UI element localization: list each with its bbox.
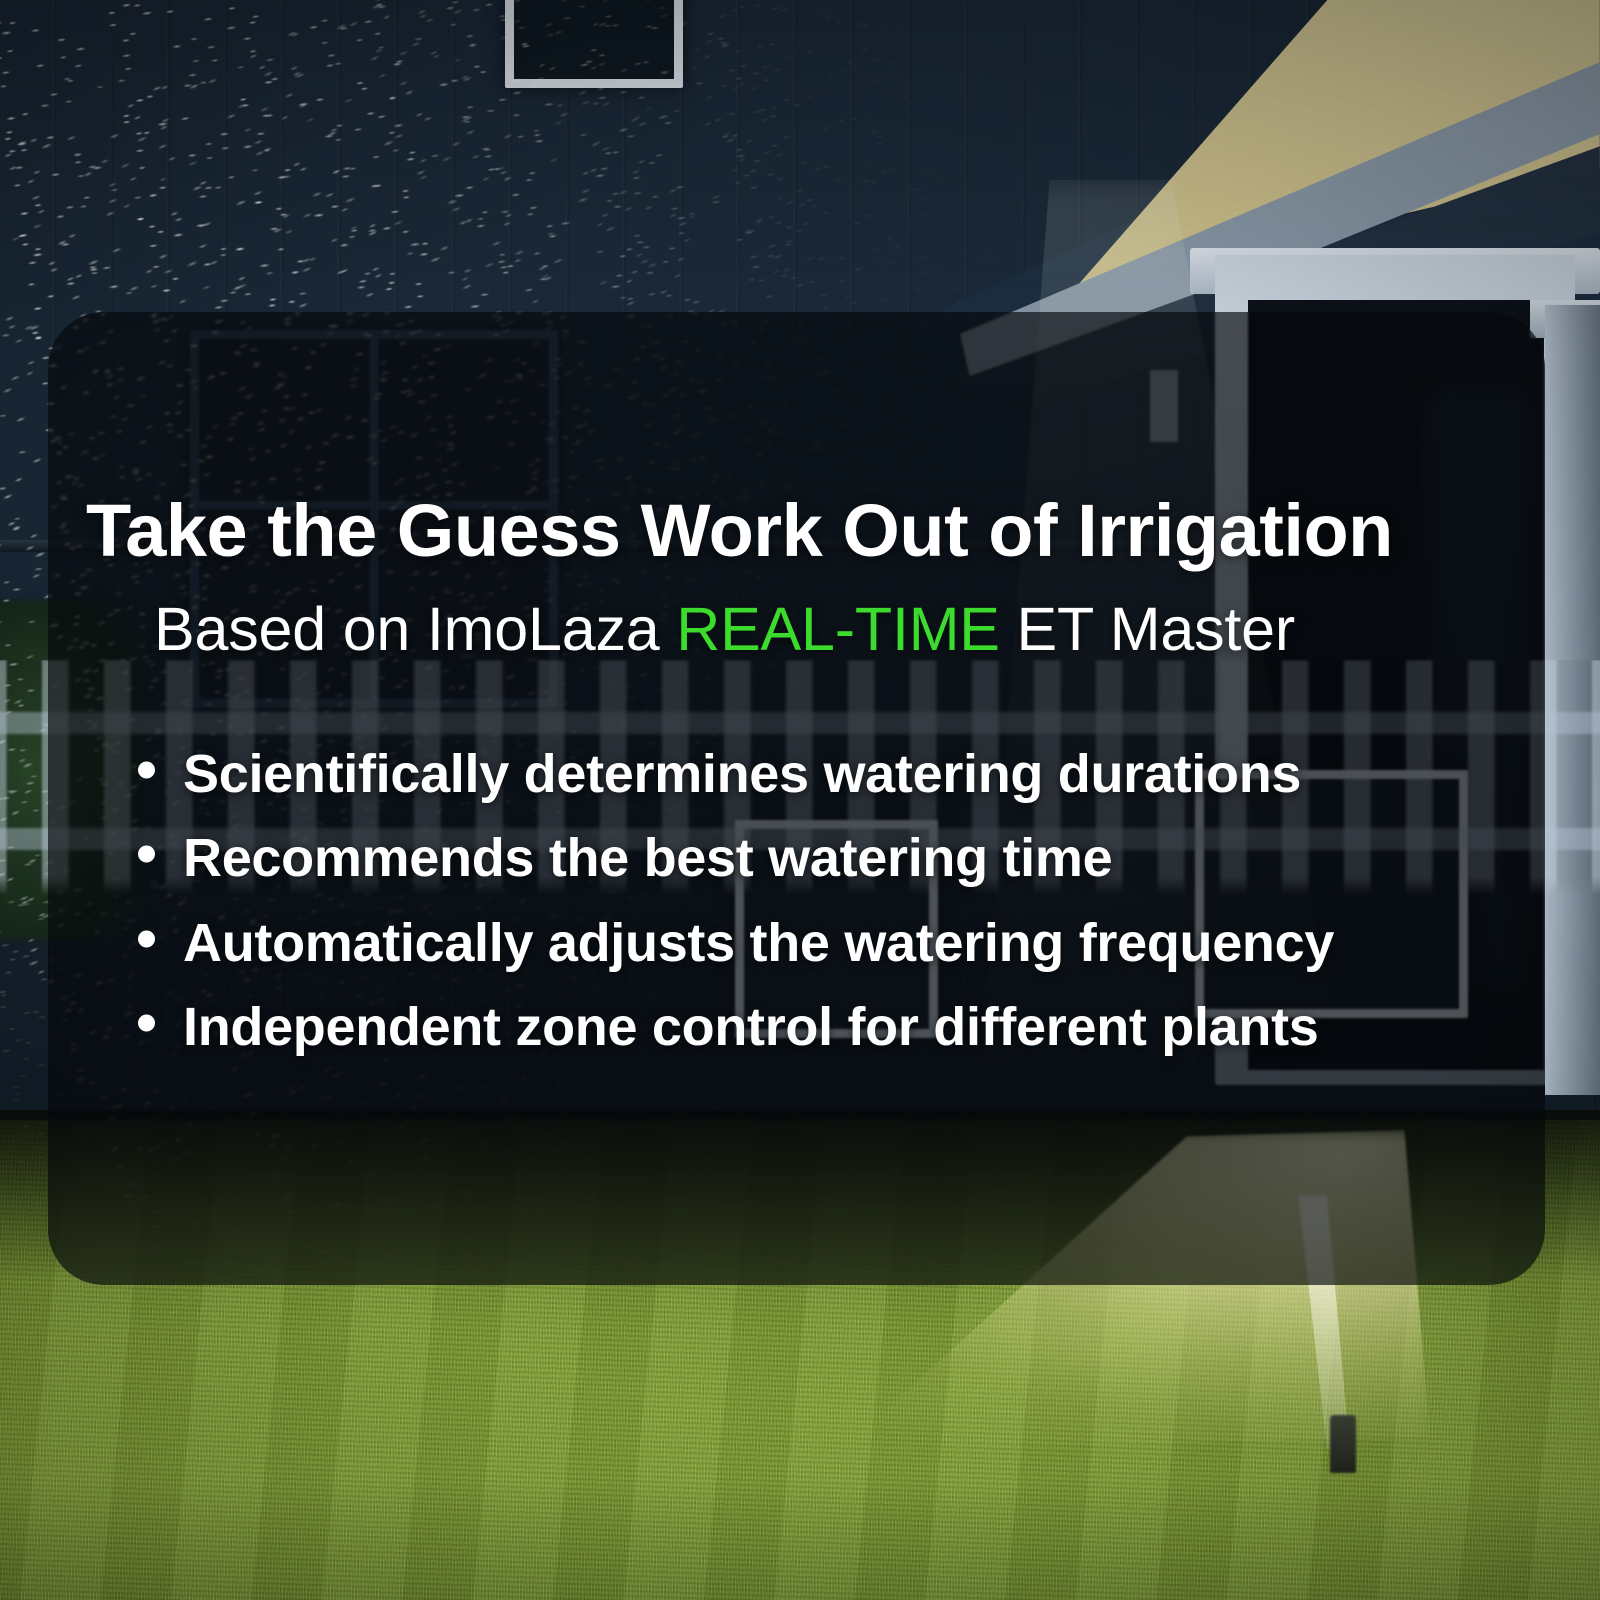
bullet-dot-icon [138, 1015, 155, 1032]
subtitle-prefix: Based on ImoLaza [154, 595, 676, 663]
list-item-label: Recommends the best watering time [183, 828, 1112, 888]
list-item: Automatically adjusts the watering frequ… [126, 913, 1526, 973]
subtitle-highlight: REAL-TIME [676, 595, 1000, 663]
list-item: Recommends the best watering time [126, 828, 1526, 888]
subtitle: Based on ImoLaza REAL-TIME ET Master [154, 599, 1534, 660]
promo-banner: Take the Guess Work Out of Irrigation Ba… [0, 0, 1600, 1600]
bullet-dot-icon [138, 761, 155, 778]
list-item-label: Scientifically determines watering durat… [183, 744, 1301, 804]
card-content: Take the Guess Work Out of Irrigation Ba… [48, 312, 1545, 1285]
feature-list: Scientifically determines watering durat… [126, 744, 1526, 1058]
list-item: Independent zone control for different p… [126, 997, 1526, 1057]
list-item: Scientifically determines watering durat… [126, 744, 1526, 804]
bullet-dot-icon [138, 930, 155, 947]
page-title: Take the Guess Work Out of Irrigation [86, 494, 1506, 568]
bullet-dot-icon [138, 846, 155, 863]
list-item-label: Independent zone control for different p… [183, 997, 1319, 1057]
list-item-label: Automatically adjusts the watering frequ… [183, 913, 1334, 973]
subtitle-suffix: ET Master [1000, 595, 1295, 663]
